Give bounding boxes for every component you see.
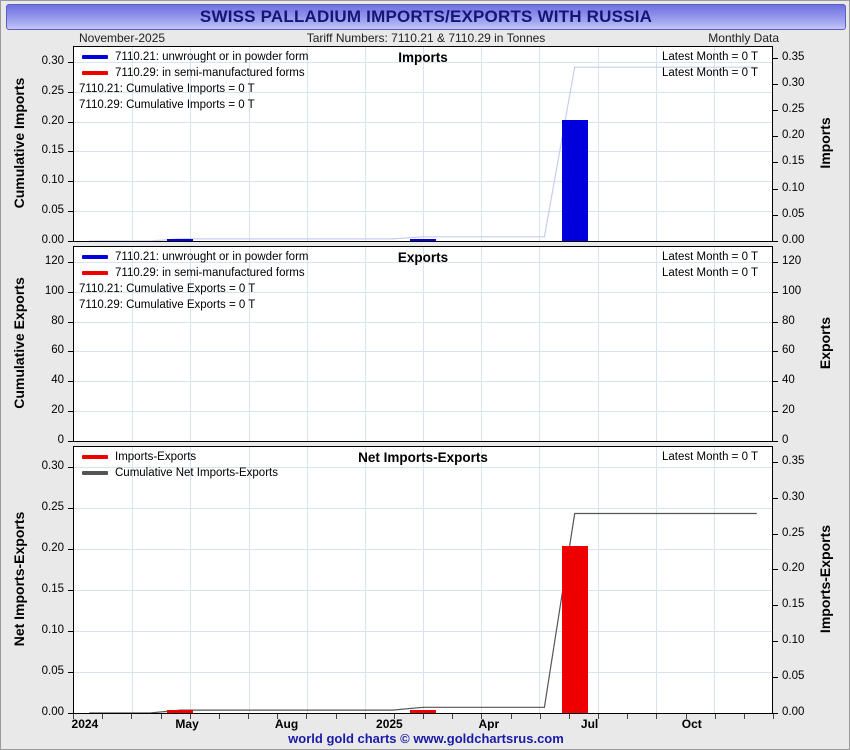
- legend-swatch-7110-29: [82, 71, 108, 75]
- x-axis-label: 2025: [376, 717, 403, 731]
- exports-right-tick-label: 80: [782, 315, 795, 327]
- exports-right-tick-label: 20: [782, 404, 795, 416]
- subheader-row: November-2025 Tariff Numbers: 7110.21 & …: [1, 31, 850, 46]
- exports-right-tick-label: 100: [782, 285, 801, 297]
- imports-panel-heading: Imports: [398, 50, 448, 65]
- imports-right-tick-label: 0.00: [782, 234, 804, 246]
- net-right-tick-label: 0.30: [782, 491, 804, 503]
- imports-right-axis-title: Imports: [817, 45, 833, 241]
- footer-credit: world gold charts © www.goldchartsrus.co…: [1, 731, 850, 746]
- net-left-tick-label: 0.25: [26, 501, 64, 513]
- imports-left-tick: [68, 241, 73, 242]
- net-right-tick: [773, 641, 778, 642]
- x-axis-label: Oct: [682, 717, 702, 731]
- net-left-tick-label: 0.00: [26, 706, 64, 718]
- exports-left-tick: [68, 441, 73, 442]
- legend-label-7110-29: 7110.29: in semi-manufactured forms: [115, 267, 305, 279]
- net-left-tick: [68, 672, 73, 673]
- exports-chart-panel: 7110.21: unwrought or in powder form 711…: [73, 246, 773, 442]
- imports-latest-0: Latest Month = 0 T: [662, 51, 758, 63]
- net-left-tick-label: 0.05: [26, 665, 64, 677]
- x-axis-tick: [773, 714, 774, 719]
- imports-left-tick-label: 0.05: [26, 204, 64, 216]
- legend-label-7110-21: 7110.21: unwrought or in powder form: [115, 51, 308, 63]
- net-chart-panel: Imports-Exports Cumulative Net Imports-E…: [73, 446, 773, 714]
- legend-label-cumulative-net: Cumulative Net Imports-Exports: [115, 467, 278, 479]
- exports-latest-1: Latest Month = 0 T: [662, 267, 758, 279]
- exports-right-tick-label: 0: [782, 434, 788, 446]
- imports-left-tick-label: 0.25: [26, 85, 64, 97]
- net-right-tick: [773, 462, 778, 463]
- imports-left-tick-label: 0.30: [26, 55, 64, 67]
- net-bar: [167, 710, 193, 713]
- legend-label-7110-29: 7110.29: in semi-manufactured forms: [115, 67, 305, 79]
- imports-right-tick-label: 0.20: [782, 129, 804, 141]
- net-right-tick: [773, 677, 778, 678]
- net-left-tick: [68, 590, 73, 591]
- net-left-tick: [68, 467, 73, 468]
- exports-legend-item-0: 7110.21: unwrought or in powder form: [82, 251, 308, 263]
- imports-right-tick: [773, 241, 778, 242]
- imports-right-tick: [773, 58, 778, 59]
- imports-right-tick-label: 0.30: [782, 77, 804, 89]
- exports-left-tick: [68, 381, 73, 382]
- imports-right-tick-label: 0.25: [782, 103, 804, 115]
- imports-left-axis-title: Cumulative Imports: [11, 45, 27, 241]
- legend-swatch-cumulative-net: [82, 471, 108, 475]
- exports-right-tick: [773, 262, 778, 263]
- net-right-tick: [773, 605, 778, 606]
- imports-right-tick-label: 0.10: [782, 182, 804, 194]
- exports-right-tick-label: 40: [782, 374, 795, 386]
- legend-swatch-7110-29: [82, 271, 108, 275]
- net-right-tick-label: 0.20: [782, 562, 804, 574]
- imports-right-tick-label: 0.15: [782, 155, 804, 167]
- net-legend-item-1: Cumulative Net Imports-Exports: [82, 467, 278, 479]
- net-bar: [562, 546, 588, 713]
- net-bars-layer: [74, 447, 772, 713]
- imports-right-tick: [773, 162, 778, 163]
- imports-right-tick: [773, 110, 778, 111]
- exports-left-tick-label: 40: [26, 374, 64, 386]
- exports-right-tick: [773, 411, 778, 412]
- x-axis-label: 2024: [72, 717, 99, 731]
- imports-left-tick: [68, 92, 73, 93]
- imports-right-tick-label: 0.35: [782, 51, 804, 63]
- imports-right-tick: [773, 84, 778, 85]
- imports-left-tick: [68, 181, 73, 182]
- imports-left-tick-label: 0.15: [26, 144, 64, 156]
- exports-latest-0: Latest Month = 0 T: [662, 251, 758, 263]
- exports-right-tick: [773, 441, 778, 442]
- imports-left-tick: [68, 211, 73, 212]
- net-right-tick-label: 0.10: [782, 634, 804, 646]
- x-axis-labels: 2024MayAug2025AprJulOct: [73, 715, 773, 731]
- exports-left-tick-label: 100: [26, 285, 64, 297]
- exports-left-tick: [68, 322, 73, 323]
- imports-right-tick: [773, 136, 778, 137]
- imports-latest-1: Latest Month = 0 T: [662, 67, 758, 79]
- net-legend-item-0: Imports-Exports: [82, 451, 196, 463]
- imports-legend-item-1: 7110.29: in semi-manufactured forms: [82, 67, 305, 79]
- imports-right-tick: [773, 189, 778, 190]
- imports-bar: [167, 239, 193, 241]
- imports-note-0: 7110.21: Cumulative Imports = 0 T: [79, 83, 255, 95]
- legend-label-7110-21: 7110.21: unwrought or in powder form: [115, 251, 308, 263]
- exports-right-axis-title: Exports: [817, 245, 833, 441]
- exports-note-0: 7110.21: Cumulative Exports = 0 T: [79, 283, 255, 295]
- exports-note-1: 7110.29: Cumulative Exports = 0 T: [79, 299, 255, 311]
- exports-left-tick: [68, 411, 73, 412]
- net-left-tick-label: 0.30: [26, 460, 64, 472]
- exports-left-tick-label: 60: [26, 344, 64, 356]
- exports-left-tick: [68, 351, 73, 352]
- data-frequency: Monthly Data: [708, 31, 779, 45]
- imports-legend-item-0: 7110.21: unwrought or in powder form: [82, 51, 308, 63]
- imports-right-tick: [773, 215, 778, 216]
- net-right-tick: [773, 569, 778, 570]
- imports-left-tick: [68, 122, 73, 123]
- imports-left-tick-label: 0.10: [26, 174, 64, 186]
- page-title: SWISS PALLADIUM IMPORTS/EXPORTS WITH RUS…: [200, 7, 652, 27]
- net-right-tick-label: 0.05: [782, 670, 804, 682]
- exports-left-tick-label: 120: [26, 255, 64, 267]
- net-right-tick-label: 0.25: [782, 527, 804, 539]
- legend-swatch-imports-exports: [82, 455, 108, 459]
- net-latest-0: Latest Month = 0 T: [662, 451, 758, 463]
- exports-right-tick-label: 120: [782, 255, 801, 267]
- exports-legend-item-1: 7110.29: in semi-manufactured forms: [82, 267, 305, 279]
- net-left-tick-label: 0.10: [26, 624, 64, 636]
- x-axis-label: Aug: [275, 717, 298, 731]
- net-right-tick: [773, 534, 778, 535]
- net-left-tick: [68, 508, 73, 509]
- x-axis-label: Apr: [478, 717, 499, 731]
- net-right-axis-title: Imports-Exports: [817, 445, 833, 713]
- x-axis-label: Jul: [581, 717, 598, 731]
- net-right-tick-label: 0.15: [782, 598, 804, 610]
- imports-left-tick-label: 0.00: [26, 234, 64, 246]
- imports-left-tick-label: 0.20: [26, 115, 64, 127]
- exports-panel-heading: Exports: [398, 250, 448, 265]
- net-left-tick-label: 0.15: [26, 583, 64, 595]
- imports-bar: [410, 239, 436, 241]
- x-axis-label: May: [175, 717, 198, 731]
- legend-swatch-7110-21: [82, 255, 108, 259]
- net-right-tick: [773, 498, 778, 499]
- exports-left-tick-label: 0: [26, 434, 64, 446]
- exports-right-tick: [773, 322, 778, 323]
- chart-window: SWISS PALLADIUM IMPORTS/EXPORTS WITH RUS…: [0, 0, 850, 750]
- net-left-tick: [68, 549, 73, 550]
- exports-left-axis-title: Cumulative Exports: [11, 245, 27, 441]
- exports-right-tick: [773, 381, 778, 382]
- window-title-bar: SWISS PALLADIUM IMPORTS/EXPORTS WITH RUS…: [6, 4, 846, 30]
- imports-right-tick-label: 0.05: [782, 208, 804, 220]
- exports-left-tick: [68, 262, 73, 263]
- legend-label-imports-exports: Imports-Exports: [115, 451, 196, 463]
- legend-swatch-7110-21: [82, 55, 108, 59]
- net-left-tick: [68, 631, 73, 632]
- tariff-numbers: Tariff Numbers: 7110.21 & 7110.29 in Ton…: [307, 31, 546, 45]
- net-bar: [410, 710, 436, 713]
- net-right-tick-label: 0.35: [782, 455, 804, 467]
- exports-left-tick-label: 80: [26, 315, 64, 327]
- imports-note-1: 7110.29: Cumulative Imports = 0 T: [79, 99, 255, 111]
- imports-bar: [562, 120, 588, 241]
- net-right-tick-label: 0.00: [782, 706, 804, 718]
- imports-left-tick: [68, 62, 73, 63]
- exports-right-tick: [773, 351, 778, 352]
- imports-left-tick: [68, 151, 73, 152]
- exports-right-tick: [773, 292, 778, 293]
- net-panel-heading: Net Imports-Exports: [358, 450, 488, 465]
- exports-right-tick-label: 60: [782, 344, 795, 356]
- exports-left-tick-label: 20: [26, 404, 64, 416]
- net-left-tick-label: 0.20: [26, 542, 64, 554]
- net-left-axis-title: Net Imports-Exports: [11, 445, 27, 713]
- report-date: November-2025: [79, 31, 165, 45]
- exports-left-tick: [68, 292, 73, 293]
- imports-chart-panel: 7110.21: unwrought or in powder form 711…: [73, 46, 773, 242]
